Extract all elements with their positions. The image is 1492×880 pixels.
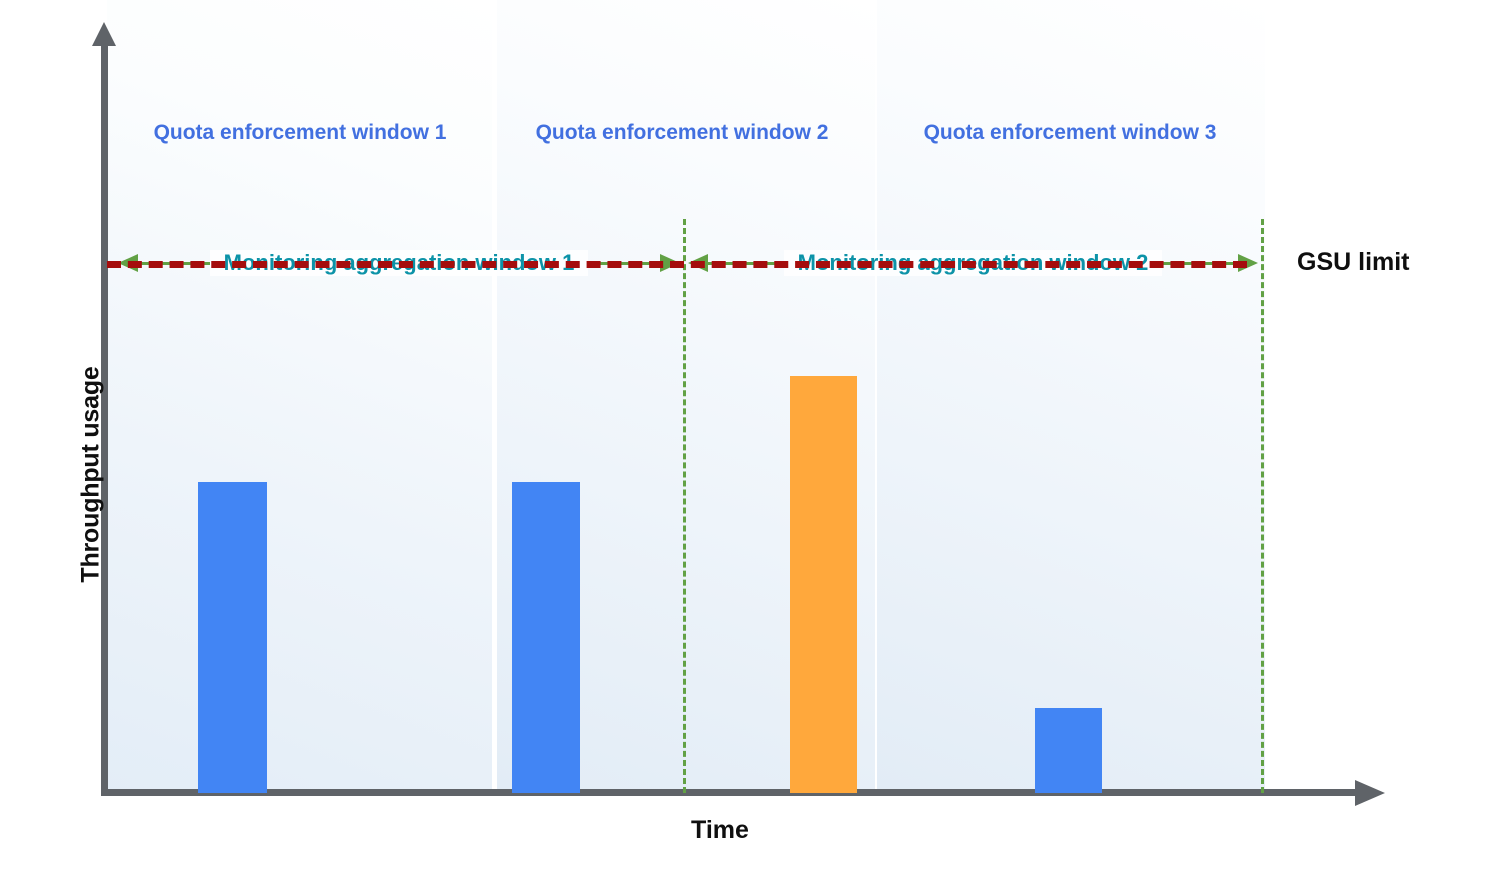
gsu-limit-line (107, 261, 1247, 268)
quota-window-band-3 (877, 0, 1265, 793)
quota-window-label-1: Quota enforcement window 1 (140, 121, 460, 145)
y-axis-arrow-icon (92, 22, 116, 46)
monitoring-window-boundary-line-2 (1261, 219, 1264, 793)
throughput-bar-4 (1035, 708, 1102, 793)
throughput-bar-3 (790, 376, 857, 793)
x-axis-label: Time (620, 816, 820, 845)
monitoring-window-boundary-line-1 (683, 219, 686, 793)
quota-window-label-3: Quota enforcement window 3 (905, 121, 1235, 145)
throughput-bar-1 (198, 482, 267, 793)
diagram-canvas: Throughput usage Time Quota enforcement … (0, 0, 1492, 880)
quota-window-band-1 (107, 0, 492, 793)
y-axis-label: Throughput usage (77, 360, 106, 590)
quota-window-label-2: Quota enforcement window 2 (522, 121, 842, 145)
x-axis-arrow-icon (1355, 780, 1385, 806)
throughput-bar-2 (512, 482, 580, 793)
gsu-limit-label: GSU limit (1297, 248, 1410, 277)
x-axis-line (101, 789, 1363, 796)
